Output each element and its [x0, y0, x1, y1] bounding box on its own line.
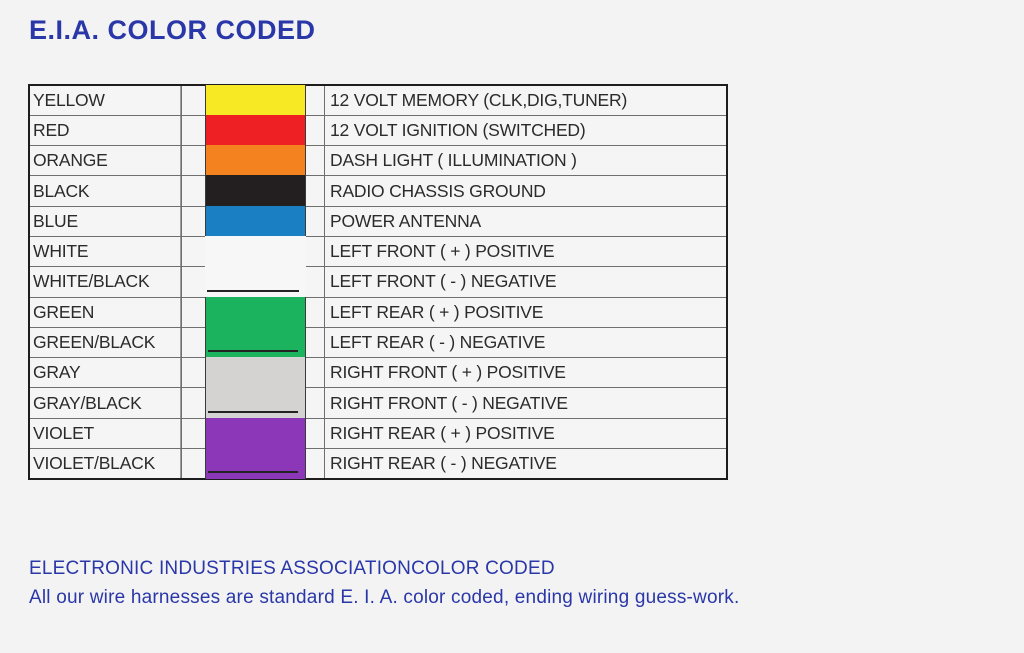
color-swatch [205, 145, 306, 176]
wire-color-name-cell: VIOLET/BLACK [29, 449, 182, 479]
wire-color-swatch-cell [182, 297, 325, 327]
wire-color-table-body: YELLOW12 VOLT MEMORY (CLK,DIG,TUNER)RED1… [29, 85, 727, 479]
wire-color-name-cell: GRAY/BLACK [29, 388, 182, 418]
wire-color-swatch-cell [182, 146, 325, 176]
table-row: RED12 VOLT IGNITION (SWITCHED) [29, 115, 727, 145]
color-swatch [205, 236, 306, 267]
wire-color-name-cell: VIOLET [29, 418, 182, 448]
wire-function-cell: LEFT REAR ( + ) POSITIVE [325, 297, 728, 327]
wire-function-cell: LEFT REAR ( - ) NEGATIVE [325, 327, 728, 357]
wire-function-text: LEFT FRONT ( - ) NEGATIVE [330, 271, 556, 291]
wire-function-cell: RIGHT FRONT ( - ) NEGATIVE [325, 388, 728, 418]
wire-color-name-cell: YELLOW [29, 85, 182, 115]
footer-text: ELECTRONIC INDUSTRIES ASSOCIATIONCOLOR C… [29, 554, 739, 612]
wire-color-name: GRAY [33, 362, 81, 382]
wire-color-table: YELLOW12 VOLT MEMORY (CLK,DIG,TUNER)RED1… [28, 84, 728, 480]
wire-color-name: GREEN [33, 302, 94, 322]
wire-function-cell: 12 VOLT MEMORY (CLK,DIG,TUNER) [325, 85, 728, 115]
wire-color-name-cell: GREEN [29, 297, 182, 327]
wire-function-cell: DASH LIGHT ( ILLUMINATION ) [325, 146, 728, 176]
table-row: GREENLEFT REAR ( + ) POSITIVE [29, 297, 727, 327]
wire-color-swatch-cell [182, 388, 325, 418]
wire-function-text: LEFT REAR ( - ) NEGATIVE [330, 332, 545, 352]
color-swatch [205, 85, 306, 116]
table-row: WHITE/BLACKLEFT FRONT ( - ) NEGATIVE [29, 267, 727, 297]
wire-color-name: BLUE [33, 211, 78, 231]
wire-color-swatch-cell [182, 115, 325, 145]
table-row: ORANGEDASH LIGHT ( ILLUMINATION ) [29, 146, 727, 176]
wire-color-name: VIOLET [33, 423, 94, 443]
wire-color-name-cell: GRAY [29, 358, 182, 388]
wire-function-text: RADIO CHASSIS GROUND [330, 181, 546, 201]
wire-function-cell: LEFT FRONT ( - ) NEGATIVE [325, 267, 728, 297]
wire-color-name: WHITE/BLACK [33, 271, 149, 291]
wire-color-name-cell: WHITE/BLACK [29, 267, 182, 297]
wire-function-text: LEFT REAR ( + ) POSITIVE [330, 302, 543, 322]
wire-color-name-cell: RED [29, 115, 182, 145]
black-tracer-stripe [208, 411, 298, 413]
table-row: WHITELEFT FRONT ( + ) POSITIVE [29, 236, 727, 266]
color-swatch [205, 115, 306, 146]
page-title: E.I.A. COLOR CODED [29, 15, 316, 46]
wire-color-swatch-cell [182, 267, 325, 297]
wire-function-text: RIGHT REAR ( + ) POSITIVE [330, 423, 555, 443]
wire-color-swatch-cell [182, 358, 325, 388]
wire-function-cell: RIGHT REAR ( + ) POSITIVE [325, 418, 728, 448]
wire-color-swatch-cell [182, 85, 325, 115]
table-row: GREEN/BLACKLEFT REAR ( - ) NEGATIVE [29, 327, 727, 357]
wire-function-text: RIGHT REAR ( - ) NEGATIVE [330, 453, 557, 473]
table-row: BLUEPOWER ANTENNA [29, 206, 727, 236]
eia-color-code-chart: E.I.A. COLOR CODED YELLOW12 VOLT MEMORY … [0, 0, 1024, 653]
black-tracer-stripe [207, 290, 299, 292]
wire-color-name-cell: WHITE [29, 236, 182, 266]
wire-color-name: ORANGE [33, 150, 108, 170]
wire-color-swatch-cell [182, 176, 325, 206]
color-swatch [205, 327, 306, 358]
wire-function-text: 12 VOLT MEMORY (CLK,DIG,TUNER) [330, 90, 627, 110]
wire-function-cell: LEFT FRONT ( + ) POSITIVE [325, 236, 728, 266]
wire-function-text: RIGHT FRONT ( + ) POSITIVE [330, 362, 566, 382]
wire-color-swatch-cell [182, 327, 325, 357]
wire-function-text: DASH LIGHT ( ILLUMINATION ) [330, 150, 577, 170]
wire-function-cell: RADIO CHASSIS GROUND [325, 176, 728, 206]
color-swatch [205, 175, 306, 206]
wire-function-text: POWER ANTENNA [330, 211, 481, 231]
black-tracer-stripe [208, 471, 298, 473]
wire-color-name: WHITE [33, 241, 88, 261]
wire-function-cell: RIGHT REAR ( - ) NEGATIVE [325, 449, 728, 479]
wire-function-cell: 12 VOLT IGNITION (SWITCHED) [325, 115, 728, 145]
table-row: BLACKRADIO CHASSIS GROUND [29, 176, 727, 206]
table-row: GRAYRIGHT FRONT ( + ) POSITIVE [29, 358, 727, 388]
footer-line-2: All our wire harnesses are standard E. I… [29, 583, 739, 612]
wire-color-name-cell: BLUE [29, 206, 182, 236]
wire-color-name-cell: ORANGE [29, 146, 182, 176]
footer-line-1: ELECTRONIC INDUSTRIES ASSOCIATIONCOLOR C… [29, 554, 739, 583]
table-row: VIOLETRIGHT REAR ( + ) POSITIVE [29, 418, 727, 448]
wire-color-swatch-cell [182, 236, 325, 266]
wire-color-name: GRAY/BLACK [33, 393, 142, 413]
wire-color-swatch-cell [182, 418, 325, 448]
wire-color-name-cell: BLACK [29, 176, 182, 206]
wire-function-text: 12 VOLT IGNITION (SWITCHED) [330, 120, 586, 140]
wire-color-name: BLACK [33, 181, 89, 201]
wire-function-text: LEFT FRONT ( + ) POSITIVE [330, 241, 554, 261]
color-swatch [205, 418, 306, 449]
table-row: VIOLET/BLACKRIGHT REAR ( - ) NEGATIVE [29, 449, 727, 479]
color-swatch [205, 357, 306, 388]
wire-color-name: GREEN/BLACK [33, 332, 155, 352]
color-swatch [205, 206, 306, 237]
table-row: YELLOW12 VOLT MEMORY (CLK,DIG,TUNER) [29, 85, 727, 115]
table-row: GRAY/BLACKRIGHT FRONT ( - ) NEGATIVE [29, 388, 727, 418]
wire-color-name: YELLOW [33, 90, 105, 110]
color-swatch [205, 387, 306, 418]
wire-color-swatch-cell [182, 449, 325, 479]
wire-function-cell: RIGHT FRONT ( + ) POSITIVE [325, 358, 728, 388]
color-swatch [205, 448, 306, 479]
wire-color-name-cell: GREEN/BLACK [29, 327, 182, 357]
wire-function-text: RIGHT FRONT ( - ) NEGATIVE [330, 393, 568, 413]
wire-function-cell: POWER ANTENNA [325, 206, 728, 236]
wire-color-name: VIOLET/BLACK [33, 453, 155, 473]
wire-color-swatch-cell [182, 206, 325, 236]
color-swatch [205, 266, 306, 297]
black-tracer-stripe [208, 350, 298, 352]
wire-color-name: RED [33, 120, 69, 140]
color-swatch [205, 297, 306, 328]
